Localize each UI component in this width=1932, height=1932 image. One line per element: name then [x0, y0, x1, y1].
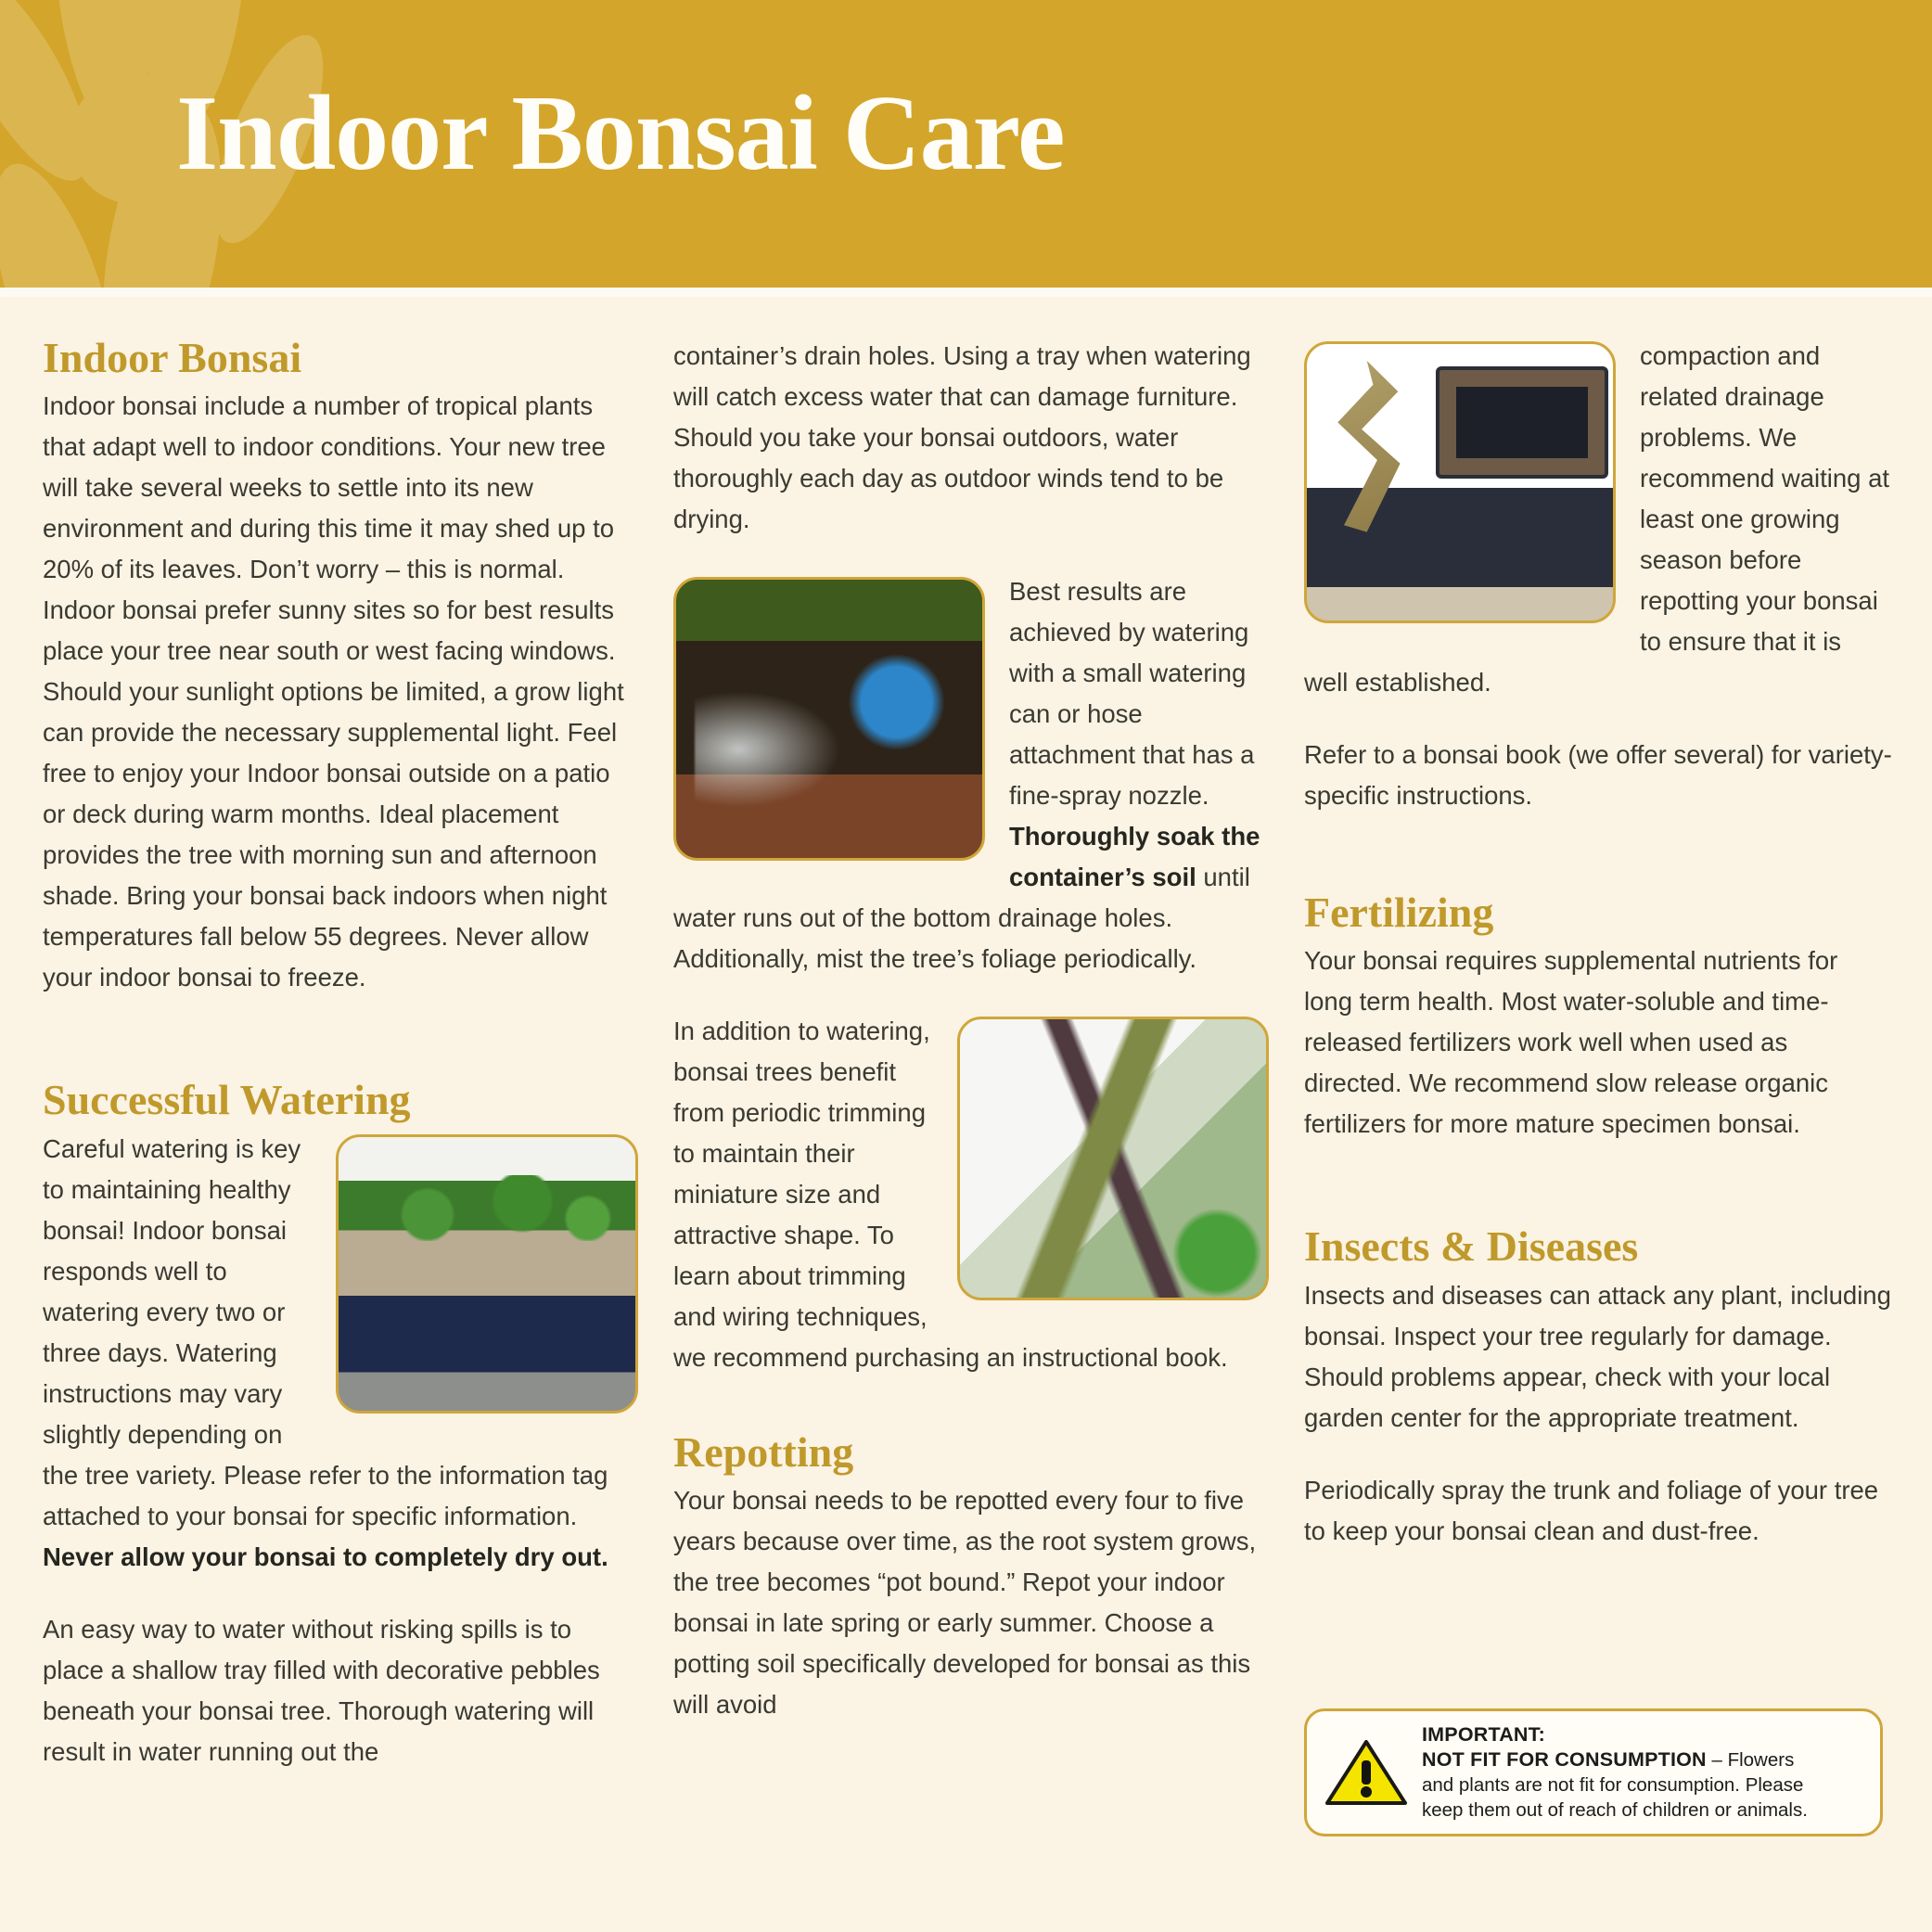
- heading-successful-watering: Successful Watering: [43, 1078, 638, 1122]
- photo-watering-can: [673, 577, 985, 861]
- photo-bonsai-wiring: [957, 1017, 1269, 1300]
- warning-line-2: NOT FIT FOR CONSUMPTION – Flowers: [1422, 1747, 1808, 1772]
- warning-line-2-rest: – Flowers: [1707, 1749, 1795, 1771]
- column-middle: container’s drain holes. Using a tray wh…: [673, 336, 1269, 1725]
- warning-line-4: keep them out of reach of children or an…: [1422, 1798, 1808, 1823]
- warning-text: IMPORTANT: NOT FIT FOR CONSUMPTION – Flo…: [1422, 1722, 1808, 1823]
- paragraph-watering-continued: container’s drain holes. Using a tray wh…: [673, 336, 1269, 540]
- paragraph-insects-1: Insects and diseases can attack any plan…: [1304, 1275, 1892, 1439]
- paragraph-best-results-a: Best results are achieved by watering wi…: [1009, 577, 1254, 810]
- paragraph-insects-2: Periodically spray the trunk and foliage…: [1304, 1470, 1892, 1552]
- paragraph-fertilizing: Your bonsai requires supplemental nutrie…: [1304, 940, 1892, 1145]
- paragraph-watering-2: An easy way to water without risking spi…: [43, 1609, 638, 1772]
- warning-triangle-icon: [1324, 1736, 1409, 1809]
- content-area: Indoor Bonsai Indoor bonsai include a nu…: [0, 297, 1932, 1892]
- heading-insects-diseases: Insects & Diseases: [1304, 1224, 1892, 1269]
- page-header: Indoor Bonsai Care: [0, 0, 1932, 288]
- paragraph-repotting: Your bonsai needs to be repotted every f…: [673, 1480, 1269, 1725]
- paragraph-repotting-continued-2: Refer to a bonsai book (we offer several…: [1304, 735, 1892, 816]
- page-title: Indoor Bonsai Care: [176, 80, 1064, 187]
- brochure-page: Indoor Bonsai Care Indoor Bonsai Indoor …: [0, 0, 1932, 1932]
- heading-indoor-bonsai: Indoor Bonsai: [43, 336, 638, 380]
- paragraph-indoor-bonsai: Indoor bonsai include a number of tropic…: [43, 386, 638, 998]
- warning-line-3: and plants are not fit for consumption. …: [1422, 1772, 1808, 1798]
- heading-fertilizing: Fertilizing: [1304, 890, 1892, 935]
- heading-repotting: Repotting: [673, 1430, 1269, 1475]
- warning-line-1: IMPORTANT:: [1422, 1722, 1808, 1747]
- column-right: compaction and related drainage problems…: [1304, 336, 1892, 1583]
- important-warning-box: IMPORTANT: NOT FIT FOR CONSUMPTION – Flo…: [1304, 1708, 1883, 1836]
- photo-jade-bonsai: [336, 1134, 638, 1414]
- photo-repotting-tray: [1304, 341, 1616, 623]
- warning-line-2-bold: NOT FIT FOR CONSUMPTION: [1422, 1748, 1707, 1771]
- column-left: Indoor Bonsai Indoor bonsai include a nu…: [43, 336, 638, 1804]
- header-divider: [0, 288, 1932, 297]
- paragraph-watering-1-bold: Never allow your bonsai to completely dr…: [43, 1542, 608, 1571]
